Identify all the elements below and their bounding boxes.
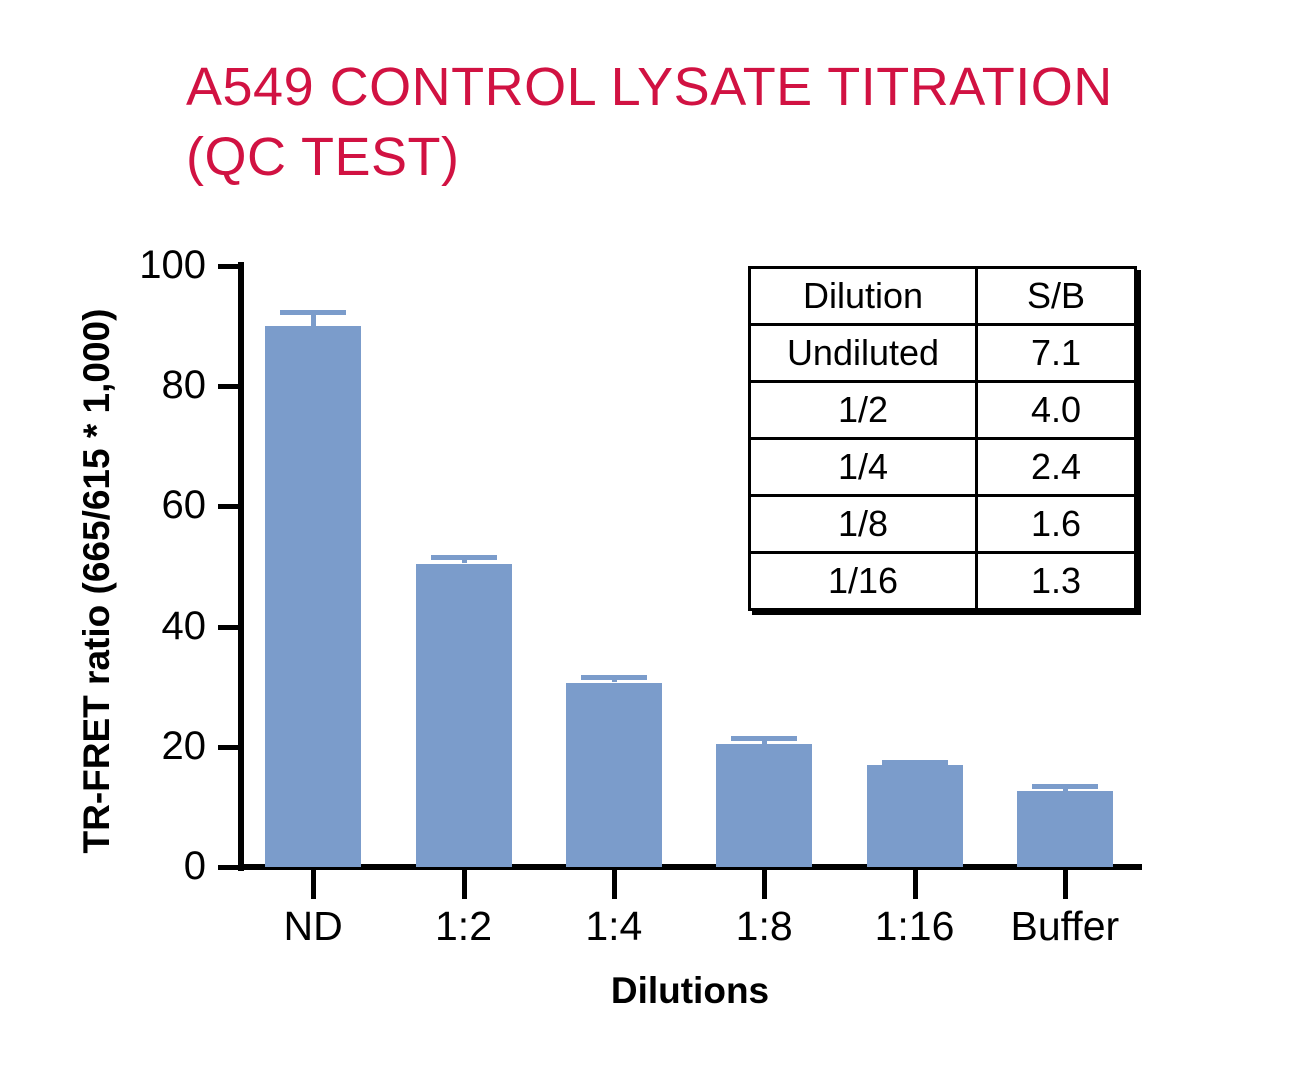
bar-1-16	[867, 765, 963, 867]
x-tick-nd	[311, 869, 316, 899]
chart-title: A549 CONTROL LYSATE TITRATION (QC TEST)	[186, 52, 1226, 192]
y-axis-title: TR-FRET ratio (665/615 * 1,000)	[76, 261, 118, 901]
y-tick-label-80: 80	[86, 365, 206, 405]
bar-1-2	[416, 564, 512, 868]
table-cell-dilution: 1/16	[750, 553, 977, 610]
x-tick-1-8	[762, 869, 767, 899]
table-cell-sb: 7.1	[977, 325, 1136, 382]
x-tick-1-2	[462, 869, 467, 899]
bar-nd	[265, 326, 361, 867]
error-bar-cap-1-16	[882, 760, 948, 765]
table-header-sb: S/B	[977, 268, 1136, 325]
x-tick-1-16	[913, 869, 918, 899]
y-tick-label-100: 100	[86, 245, 206, 285]
table-cell-dilution: 1/4	[750, 439, 977, 496]
table-row: 1/161.3	[750, 553, 1136, 610]
bar-buffer	[1017, 791, 1113, 867]
error-bar-stem-nd	[311, 314, 316, 326]
y-tick-80	[218, 384, 238, 389]
table-cell-sb: 1.3	[977, 553, 1136, 610]
table-row: 1/24.0	[750, 382, 1136, 439]
table-row: Undiluted7.1	[750, 325, 1136, 382]
table-cell-dilution: 1/2	[750, 382, 977, 439]
y-tick-20	[218, 745, 238, 750]
y-tick-40	[218, 625, 238, 630]
table-row: 1/81.6	[750, 496, 1136, 553]
table-row: 1/42.4	[750, 439, 1136, 496]
y-tick-label-0: 0	[86, 846, 206, 886]
bar-1-8	[716, 744, 812, 867]
error-bar-cap-1-2	[431, 555, 497, 560]
error-bar-cap-buffer	[1032, 784, 1098, 789]
table-cell-sb: 4.0	[977, 382, 1136, 439]
y-tick-label-20: 20	[86, 726, 206, 766]
error-bar-cap-1-4	[581, 675, 647, 680]
table-cell-dilution: 1/8	[750, 496, 977, 553]
table-cell-sb: 1.6	[977, 496, 1136, 553]
x-tick-label-buffer: Buffer	[955, 902, 1175, 950]
y-tick-label-60: 60	[86, 485, 206, 525]
table-header-row: Dilution S/B	[750, 268, 1136, 325]
signal-to-background-table: Dilution S/B Undiluted7.11/24.01/42.41/8…	[748, 266, 1137, 611]
chart-figure: A549 CONTROL LYSATE TITRATION (QC TEST) …	[0, 0, 1293, 1065]
x-tick-buffer	[1063, 869, 1068, 899]
y-tick-0	[218, 865, 238, 870]
table-cell-dilution: Undiluted	[750, 325, 977, 382]
table-cell-sb: 2.4	[977, 439, 1136, 496]
y-tick-100	[218, 264, 238, 269]
x-axis-title: Dilutions	[238, 970, 1142, 1012]
y-tick-label-40: 40	[86, 606, 206, 646]
table-header-dilution: Dilution	[750, 268, 977, 325]
bar-1-4	[566, 683, 662, 868]
y-tick-60	[218, 504, 238, 509]
error-bar-cap-1-8	[731, 736, 797, 741]
error-bar-cap-nd	[280, 310, 346, 315]
x-tick-1-4	[612, 869, 617, 899]
